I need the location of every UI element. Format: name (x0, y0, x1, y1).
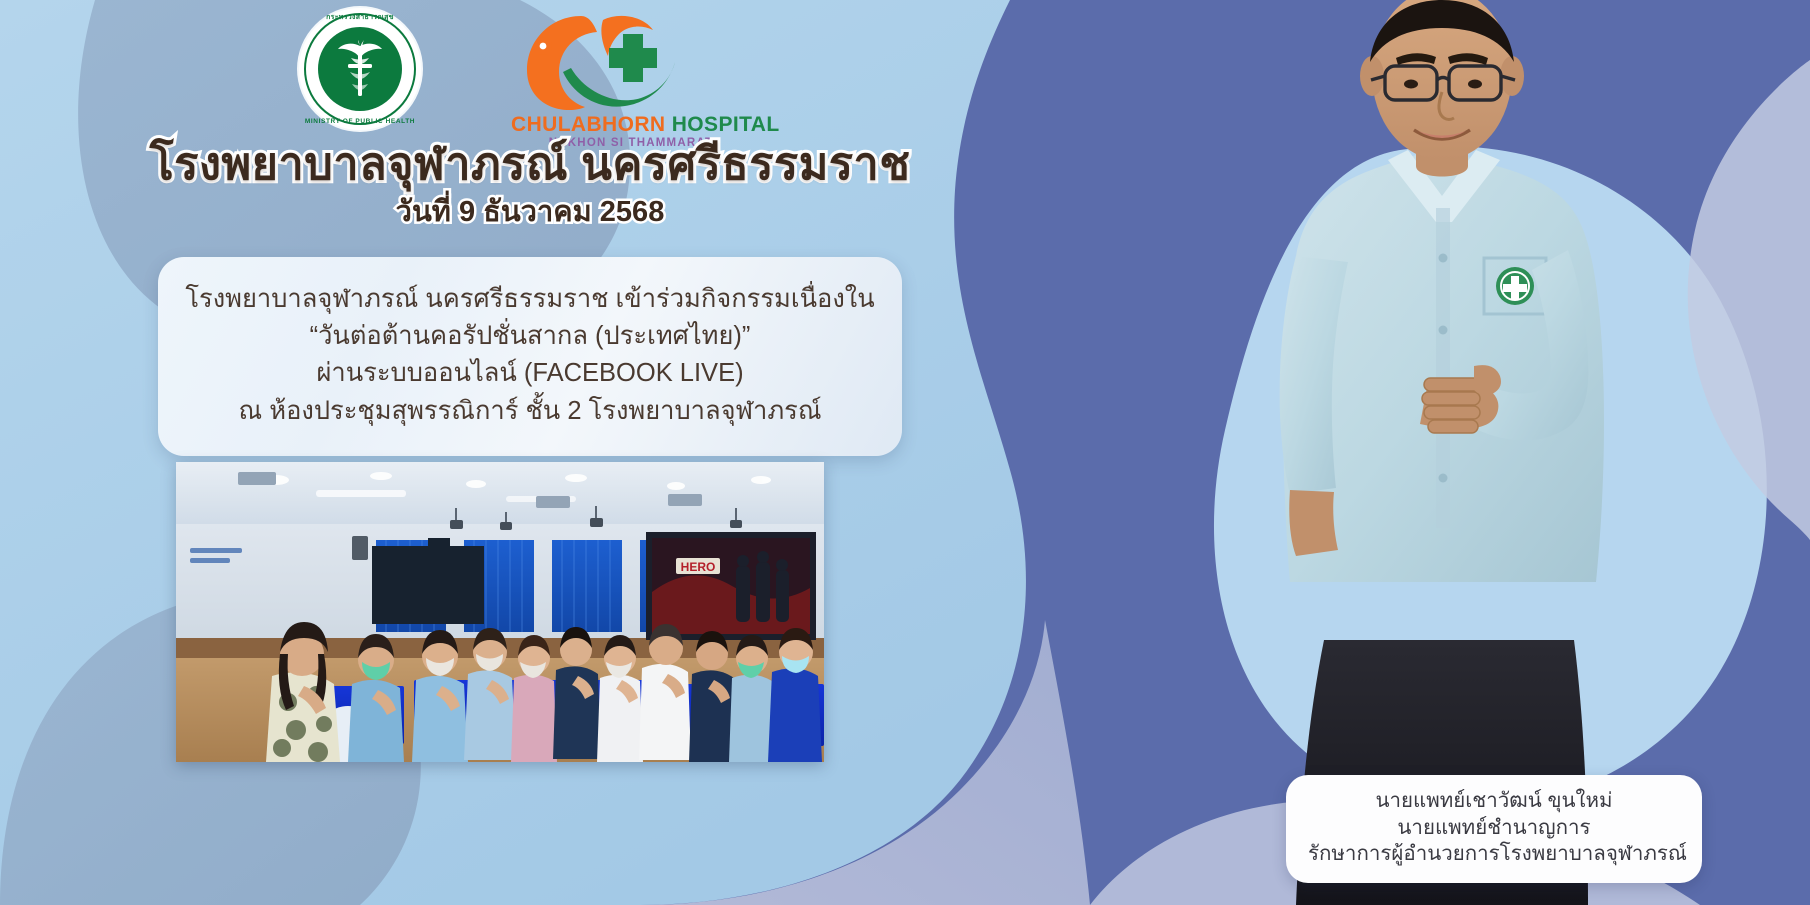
announcement-line-3: ผ่านระบบออนไลน์ (FACEBOOK LIVE) (184, 355, 876, 392)
logo-row: กระทรวงสาธารณสุข MINISTRY OF PUBLIC HEAL… (0, 8, 1050, 149)
doctor-name-card: นายแพทย์เชาวัฒน์ ขุนใหม่ นายแพทย์ชำนาญกา… (1286, 775, 1702, 883)
header-block: โรงพยาบาลจุฬาภรณ์ นครศรีธรรมราช วันที่ 9… (0, 138, 1060, 231)
event-date: วันที่ 9 ธันวาคม 2568 (0, 194, 1060, 232)
doctor-portrait-image (1174, 0, 1714, 905)
chulabhorn-hospital-mark-icon (511, 10, 681, 115)
announcement-line-4: ณ ห้องประชุมสุพรรณิการ์ ชั้น 2 โรงพยาบาล… (184, 393, 876, 430)
event-photo: HERO (176, 462, 824, 762)
hospital-name-part1: CHULABHORN (511, 113, 672, 136)
ministry-of-public-health-seal-icon: กระทรวงสาธารณสุข MINISTRY OF PUBLIC HEAL… (299, 8, 421, 130)
ministry-seal-english-text: MINISTRY OF PUBLIC HEALTH (299, 118, 421, 125)
event-photo-image: HERO (176, 462, 824, 762)
chulabhorn-hospital-name: CHULABHORN HOSPITAL (511, 114, 751, 136)
announcement-line-2: “วันต่อต้านคอรัปชั่นสากล (ประเทศไทย)” (184, 318, 876, 355)
svg-text:HERO: HERO (681, 560, 716, 574)
chulabhorn-hospital-logo: CHULABHORN HOSPITAL NAKHON SI THAMMARAT (511, 8, 751, 149)
announcement-line-1: โรงพยาบาลจุฬาภรณ์ นครศรีธรรมราช เข้าร่วม… (184, 281, 876, 318)
hospital-name-part2: HOSPITAL (672, 113, 780, 136)
doctor-portrait (1174, 0, 1714, 905)
doctor-rank: นายแพทย์ชำนาญการ (1308, 815, 1680, 842)
page-title: โรงพยาบาลจุฬาภรณ์ นครศรีธรรมราช (0, 138, 1060, 190)
doctor-name: นายแพทย์เชาวัฒน์ ขุนใหม่ (1308, 788, 1680, 815)
doctor-position: รักษาการผู้อำนวยการโรงพยาบาลจุฬาภรณ์ (1308, 841, 1680, 868)
caduceus-icon (333, 38, 387, 100)
shirt-hospital-badge (1496, 267, 1534, 305)
ministry-seal-thai-text: กระทรวงสาธารณสุข (299, 12, 421, 23)
announcement-card: โรงพยาบาลจุฬาภรณ์ นครศรีธรรมราช เข้าร่วม… (158, 257, 902, 456)
